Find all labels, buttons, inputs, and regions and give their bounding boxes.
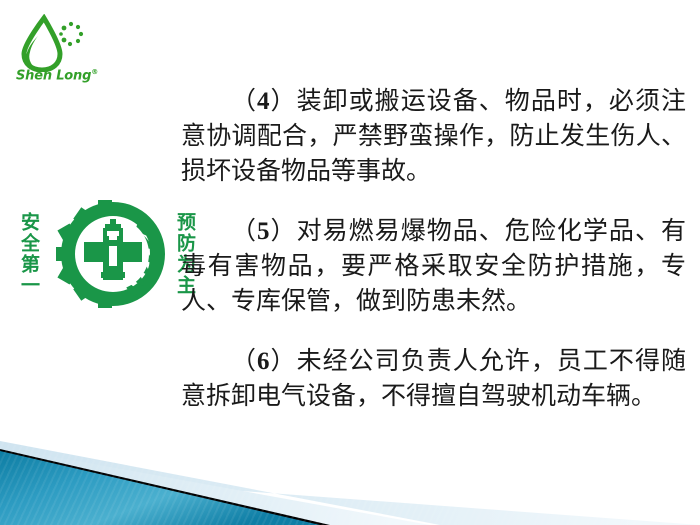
paragraph-6-paren-open: （ <box>231 348 257 375</box>
bottom-decorative-banner <box>0 433 700 525</box>
logo-trademark-symbol: ® <box>91 68 98 76</box>
safety-first-text: 安全第一 <box>16 200 42 308</box>
paragraph-5-paren-close: ） <box>270 218 297 245</box>
paragraph-5-paren-open: （ <box>231 218 257 245</box>
paragraph-4-paren-close: ） <box>270 88 297 115</box>
slide-canvas: Shen Long® 安全第一 预防为主 <box>0 0 700 525</box>
paragraph-4: （4）装卸或搬运设备、物品时，必须注意协调配合，严禁野蛮操作，防止发生伤人、损坏… <box>181 84 686 189</box>
safety-gear-wheat-cross-emblem <box>54 198 172 310</box>
paragraph-5-number: 5 <box>257 218 270 245</box>
paragraph-6-paren-close: ） <box>270 348 297 375</box>
paragraph-6: （6）未经公司负责人允许，员工不得随意拆卸电气设备，不得擅自驾驶机动车辆。 <box>181 344 686 414</box>
paragraph-5: （5）对易燃易爆物品、危险化学品、有毒有害物品，要严格采取安全防护措施，专人、专… <box>181 214 686 319</box>
logo-wordmark: Shen Long® <box>16 68 106 83</box>
paragraph-4-number: 4 <box>257 88 270 115</box>
logo-name-text: Shen Long <box>16 68 91 83</box>
paragraph-6-number: 6 <box>257 348 270 375</box>
company-logo: Shen Long® <box>14 14 106 92</box>
water-droplet-icon <box>14 14 106 72</box>
paragraph-4-paren-open: （ <box>231 88 257 115</box>
